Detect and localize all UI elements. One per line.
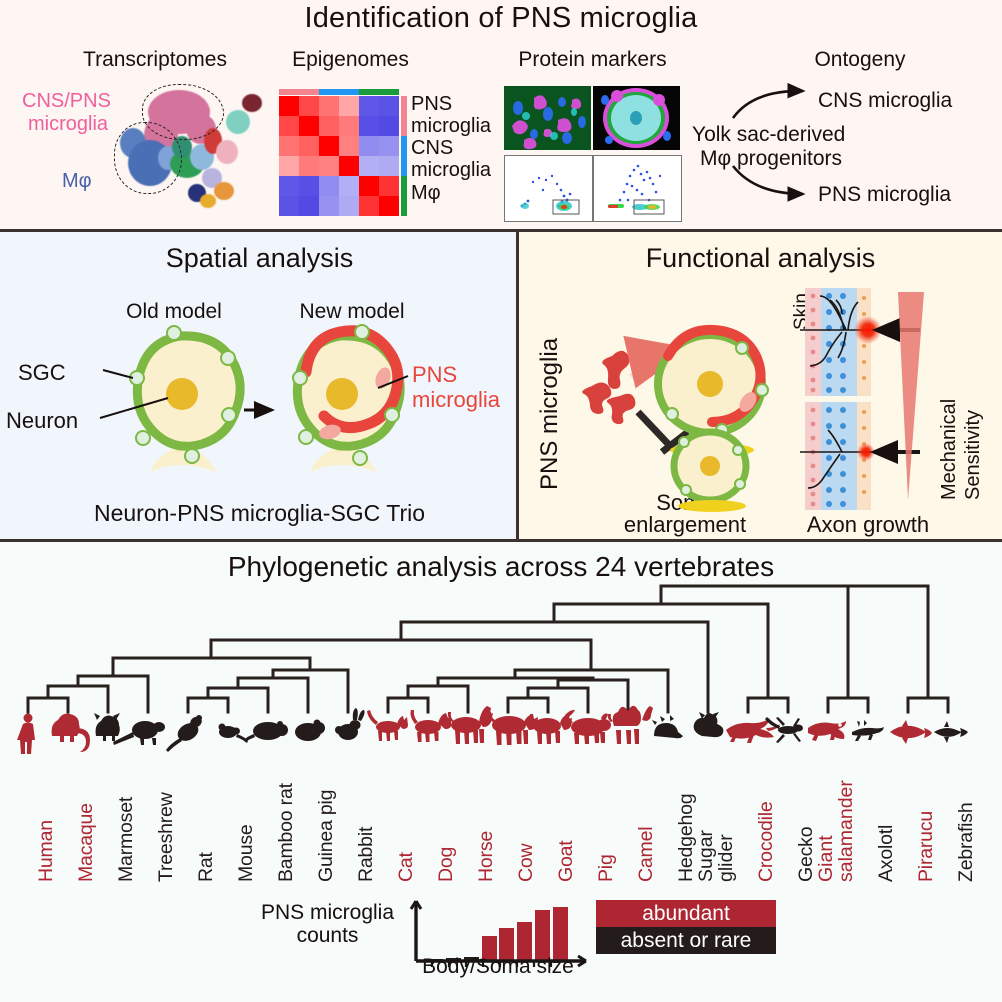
species-label-rat: Rat [195, 852, 218, 882]
heatmap-cell [359, 196, 379, 216]
species-label-goat: Goat [555, 841, 578, 882]
graphical-abstract: Identification of PNS microglia Transcri… [0, 0, 1002, 1002]
heatmap-cell [379, 196, 399, 216]
panel-title-phylogenetic: Phylogenetic analysis across 24 vertebra… [0, 551, 1002, 583]
heatmap-row-label-cns-2: microglia [411, 159, 491, 182]
species-label-rabbit: Rabbit [355, 827, 378, 882]
species-label-mouse: Mouse [235, 824, 258, 882]
label-skin: Skin [791, 293, 813, 330]
label-pns-microglia-line2: microglia [412, 387, 500, 413]
heatmap-cell [379, 136, 399, 156]
heatmap-group-bar-side [401, 96, 407, 216]
label-soma-line2: enlargement [590, 512, 780, 538]
ontogeny-source-line1: Yolk sac-derived [692, 123, 845, 147]
heading-ontogeny: Ontogeny [760, 48, 960, 72]
heatmap-cell [359, 156, 379, 176]
inset-ylabel-line1: PNS microglia [261, 901, 394, 924]
heatmap-cell [299, 116, 319, 136]
species-label-pirarucu: Pirarucu [915, 811, 938, 882]
species-label-bamboo-rat: Bamboo rat [275, 783, 298, 882]
species-label-zebrafish: Zebrafish [955, 803, 978, 883]
species-label-camel: Camel [635, 827, 658, 882]
label-cns-pns-microglia-line1: CNS/PNS [22, 90, 111, 113]
micrograph-tissue [504, 86, 591, 150]
heatmap-cell [339, 116, 359, 136]
flow-cytometry-plot-2 [593, 155, 682, 222]
label-axon-growth: Axon growth [778, 512, 958, 538]
label-pns-microglia-line1: PNS [412, 362, 457, 388]
heatmap-cell [299, 136, 319, 156]
species-label-cow: Cow [515, 844, 538, 882]
ontogeny-source-line2: Mφ progenitors [700, 147, 842, 171]
inset-ylabel-line2: counts [297, 924, 359, 947]
heatmap-row-label-macrophage: Mφ [411, 182, 441, 205]
heading-transcriptomes: Transcriptomes [60, 48, 250, 72]
heatmap-cell [339, 96, 359, 116]
inset-chart-ylabel: PNS microglia counts [245, 901, 410, 947]
species-label-pig: Pig [595, 854, 618, 882]
heatmap-cell [319, 116, 339, 136]
heatmap-cell [359, 136, 379, 156]
heatmap-cell [299, 196, 319, 216]
species-label-cat: Cat [395, 852, 418, 882]
inset-chart-xlabel: Body/Soma size [393, 955, 603, 979]
legend-absent-or-rare: absent or rare [596, 927, 776, 954]
heatmap-cell [299, 176, 319, 196]
species-label-guinea-pig: Guinea pig [315, 790, 338, 882]
heatmap-cell [319, 156, 339, 176]
label-old-model: Old model [84, 300, 264, 324]
species-label-marmoset: Marmoset [115, 797, 138, 882]
panel-title-identification: Identification of PNS microglia [0, 2, 1002, 35]
heading-protein-markers: Protein markers [490, 48, 695, 72]
species-label-human: Human [35, 820, 58, 882]
heatmap-cell [319, 96, 339, 116]
heatmap-cell [299, 156, 319, 176]
heatmap-cell [359, 96, 379, 116]
heatmap-cell [359, 116, 379, 136]
heatmap-cell [279, 176, 299, 196]
label-macrophage-umap: Mφ [62, 170, 92, 193]
heatmap-cell [319, 176, 339, 196]
heatmap-cell [279, 196, 299, 216]
inset-bar [535, 910, 550, 961]
legend-abundant: abundant [596, 900, 776, 927]
species-label-treeshrew: Treeshrew [155, 792, 178, 882]
label-mechanical-sensitivity-line2: Sensitivity [962, 410, 985, 500]
species-label-macaque: Macaque [75, 803, 98, 882]
heatmap-row-label-cns: CNS [411, 137, 453, 160]
species-label-sugar-glider: Sugarglider [696, 830, 736, 882]
species-label-dog: Dog [435, 847, 458, 882]
heatmap-cell [279, 136, 299, 156]
heatmap-cell [279, 156, 299, 176]
heatmap-cell [379, 176, 399, 196]
heatmap-cell [339, 176, 359, 196]
micrograph-neuron-soma [593, 86, 680, 150]
panel-title-spatial: Spatial analysis [0, 243, 519, 274]
ontogeny-branch-cns: CNS microglia [818, 89, 952, 113]
ontogeny-branch-pns: PNS microglia [818, 183, 951, 207]
label-pns-microglia-functional: PNS microglia [536, 338, 564, 490]
heatmap-group-bar-top [279, 89, 399, 95]
heatmap-cell [279, 116, 299, 136]
panel-functional-analysis [519, 232, 1002, 542]
heatmap-cell [379, 96, 399, 116]
label-neuron: Neuron [6, 408, 78, 434]
heatmap-cell [339, 156, 359, 176]
inset-bar-chart [428, 903, 568, 961]
inset-bar [553, 907, 568, 961]
label-cns-pns-microglia-line2: microglia [28, 113, 108, 136]
heatmap-cell [319, 196, 339, 216]
species-label-axolotl: Axolotl [875, 825, 898, 882]
epigenome-heatmap [279, 96, 399, 216]
flow-cytometry-plot-1 [504, 155, 593, 222]
heatmap-row-label-pns-2: microglia [411, 115, 491, 138]
umap-scatter-plot [120, 88, 265, 223]
label-new-model: New model [262, 300, 442, 324]
heatmap-cell [319, 136, 339, 156]
heatmap-cell [299, 96, 319, 116]
species-label-giant-salamander: Giantsalamander [816, 780, 856, 882]
heatmap-cell [279, 96, 299, 116]
species-label-horse: Horse [475, 831, 498, 882]
panel-title-functional: Functional analysis [519, 243, 1002, 274]
heading-epigenomes: Epigenomes [268, 48, 433, 72]
heatmap-cell [339, 196, 359, 216]
heatmap-row-label-pns: PNS [411, 93, 452, 116]
label-mechanical-sensitivity-line1: Mechanical [938, 399, 961, 500]
label-sgc: SGC [18, 360, 66, 386]
heatmap-cell [359, 176, 379, 196]
heatmap-cell [379, 116, 399, 136]
heatmap-cell [339, 136, 359, 156]
species-label-crocodile: Crocodile [755, 801, 778, 882]
heatmap-cell [379, 156, 399, 176]
spatial-caption: Neuron-PNS microglia-SGC Trio [0, 500, 519, 527]
